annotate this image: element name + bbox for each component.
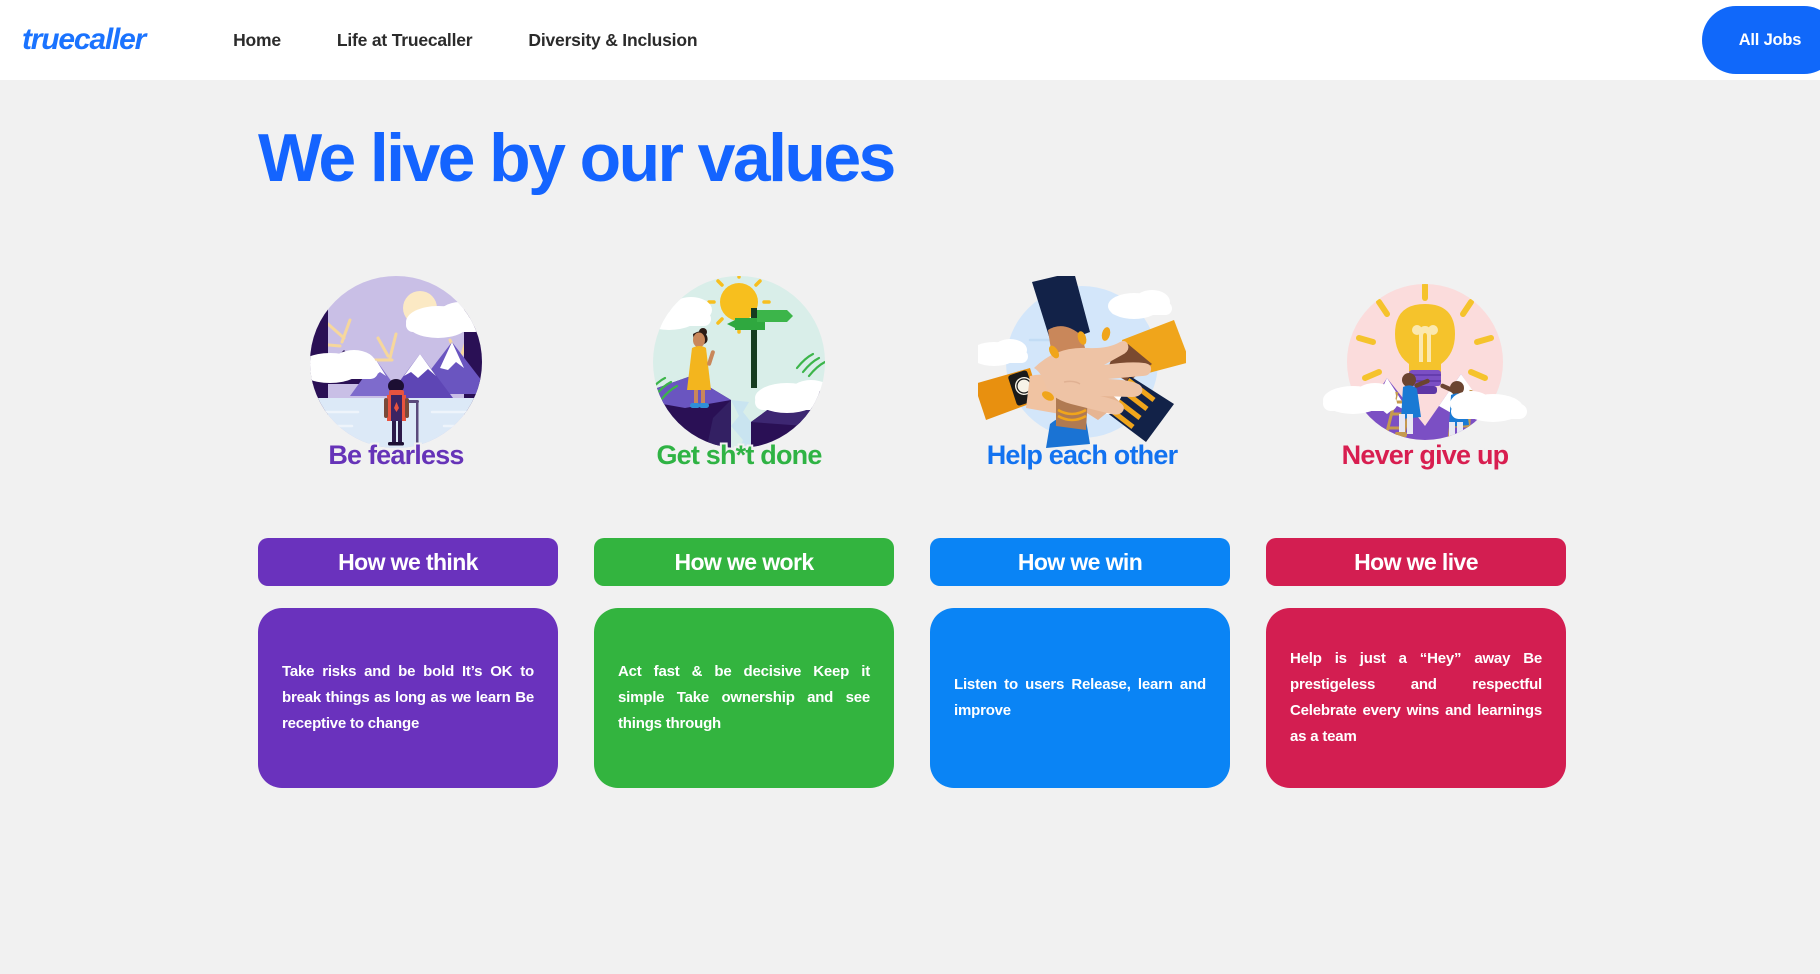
card-text: Take risks and be bold It’s OK to break … xyxy=(282,659,534,736)
card-how-we-live: How we live Help is just a “Hey” away Be… xyxy=(1266,538,1566,788)
nav-item-life-at-truecaller[interactable]: Life at Truecaller xyxy=(337,30,473,51)
card-header[interactable]: How we win xyxy=(930,538,1230,586)
card-body: Listen to users Release, learn and impro… xyxy=(930,608,1230,788)
value-item-help-each-other: Help each other xyxy=(944,276,1220,471)
card-header[interactable]: How we think xyxy=(258,538,558,586)
card-body: Act fast & be decisive Keep it simple Ta… xyxy=(594,608,894,788)
card-header[interactable]: How we live xyxy=(1266,538,1566,586)
card-text: Act fast & be decisive Keep it simple Ta… xyxy=(618,659,870,736)
nav-item-home[interactable]: Home xyxy=(233,30,281,51)
cliff-signpost-icon xyxy=(635,276,843,456)
all-jobs-button[interactable]: All Jobs xyxy=(1702,6,1820,74)
page-title: We live by our values xyxy=(258,124,894,192)
values-illustrations-row: Be fearless xyxy=(258,276,1563,471)
value-item-be-fearless: Be fearless xyxy=(258,276,534,471)
card-body: Help is just a “Hey” away Be prestigeles… xyxy=(1266,608,1566,788)
values-cards-row: How we think Take risks and be bold It’s… xyxy=(258,538,1566,788)
card-header[interactable]: How we work xyxy=(594,538,894,586)
card-how-we-win: How we win Listen to users Release, lear… xyxy=(930,538,1230,788)
card-text: Help is just a “Hey” away Be prestigeles… xyxy=(1290,646,1542,749)
mountain-hiker-icon xyxy=(292,276,500,456)
nav-item-diversity-inclusion[interactable]: Diversity & Inclusion xyxy=(528,30,697,51)
main-content: We live by our values xyxy=(0,80,1820,974)
value-label: Help each other xyxy=(987,440,1178,471)
card-body: Take risks and be bold It’s OK to break … xyxy=(258,608,558,788)
card-how-we-think: How we think Take risks and be bold It’s… xyxy=(258,538,558,788)
value-label: Be fearless xyxy=(328,440,463,471)
stacked-hands-icon xyxy=(978,276,1186,456)
lightbulb-ladder-icon xyxy=(1321,276,1529,456)
card-text: Listen to users Release, learn and impro… xyxy=(954,672,1206,724)
value-label: Get sh*t done xyxy=(656,440,821,471)
truecaller-logo[interactable]: truecaller xyxy=(22,23,145,57)
site-header: truecaller Home Life at Truecaller Diver… xyxy=(0,0,1820,80)
card-how-we-work: How we work Act fast & be decisive Keep … xyxy=(594,538,894,788)
value-item-get-sht-done: Get sh*t done xyxy=(601,276,877,471)
value-label: Never give up xyxy=(1342,440,1509,471)
value-item-never-give-up: Never give up xyxy=(1287,276,1563,471)
main-navigation: Home Life at Truecaller Diversity & Incl… xyxy=(233,30,697,51)
